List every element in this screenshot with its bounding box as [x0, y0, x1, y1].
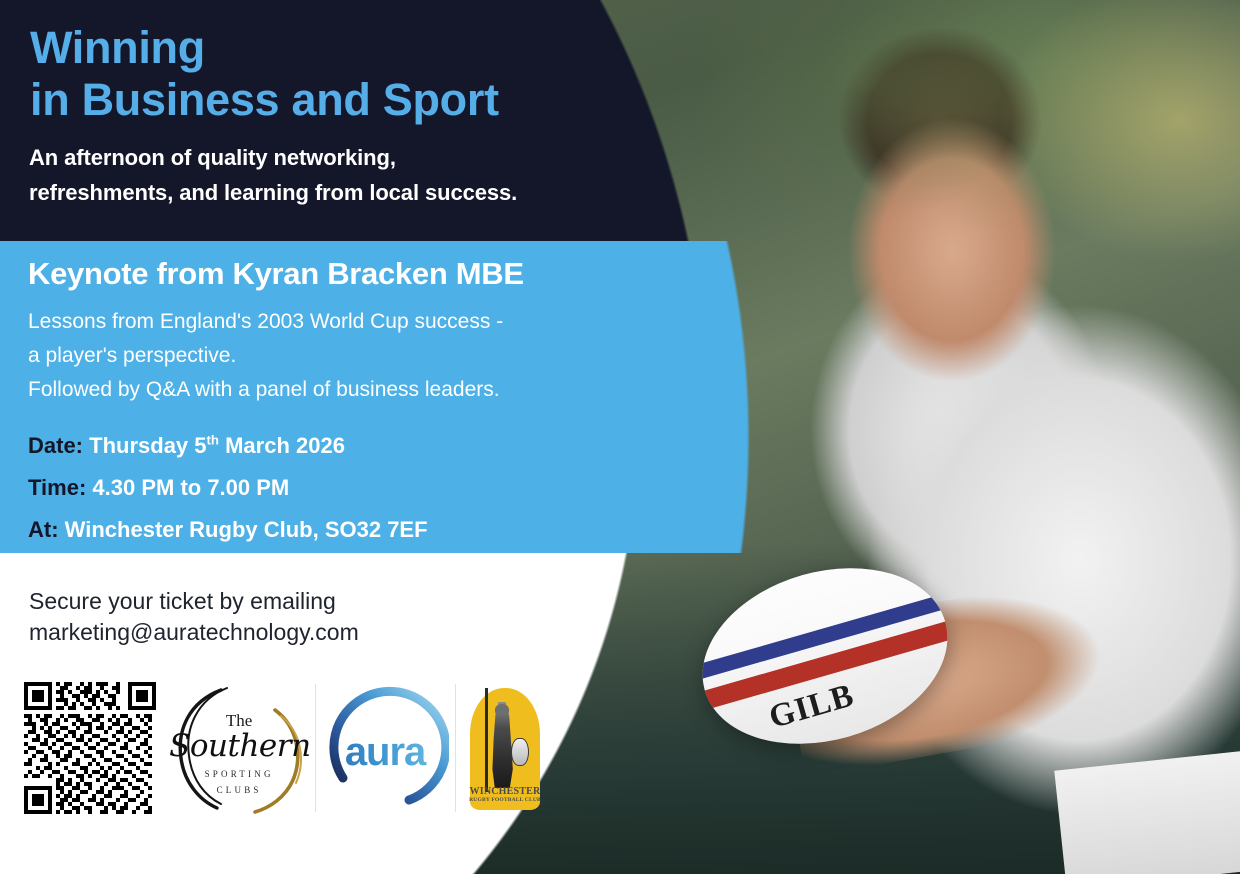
event-flyer: GILB Winning in Business and Sport An af… [0, 0, 1240, 874]
southern-sporting-text: SPORTING [169, 768, 309, 782]
qr-code-cell[interactable] [24, 678, 156, 818]
king-alfred-shield-icon [511, 738, 529, 766]
keynote-desc-line-3: Followed by Q&A with a panel of business… [28, 373, 503, 407]
aura-logo: aura [321, 678, 449, 818]
southern-logo-mark: The Southern SPORTING CLUBS [169, 682, 309, 814]
king-alfred-head-icon [495, 704, 509, 715]
detail-row-date: Date: Thursday 5th March 2026 [28, 425, 428, 467]
winchester-name-line-1: WINCHESTER [461, 786, 549, 797]
cta-email[interactable]: marketing@auratechnology.com [29, 617, 359, 648]
aura-logo-mark: aura [321, 682, 449, 814]
qr-code-icon[interactable] [24, 682, 156, 814]
logo-divider-2 [449, 678, 461, 818]
southern-sporting-clubs-logo: The Southern SPORTING CLUBS [169, 678, 309, 818]
divider-line [315, 684, 316, 812]
subheadline-line-1: An afternoon of quality networking, [29, 140, 517, 175]
keynote-title: Keynote from Kyran Bracken MBE [28, 256, 524, 292]
page-title: Winning in Business and Sport [30, 22, 499, 126]
qr-code-svg [24, 682, 156, 814]
king-alfred-staff-icon [485, 688, 488, 792]
date-value-pre: Thursday 5 [89, 433, 206, 458]
logo-spacer-1 [156, 678, 169, 818]
keynote-desc-line-1: Lessons from England's 2003 World Cup su… [28, 305, 503, 339]
headline-line-1: Winning [30, 22, 499, 74]
date-label: Date: [28, 433, 83, 458]
winchester-logo-mark: WINCHESTER RUGBY FOOTBALL CLUB [461, 682, 549, 814]
location-label: At: [28, 517, 59, 542]
date-value: Thursday 5th March 2026 [89, 433, 345, 458]
cta-line-1: Secure your ticket by emailing [29, 586, 359, 617]
event-details: Date: Thursday 5th March 2026 Time: 4.30… [28, 425, 428, 552]
date-value-post: March 2026 [219, 433, 345, 458]
cta-text: Secure your ticket by emailing marketing… [29, 586, 359, 648]
southern-clubs-text: CLUBS [169, 784, 309, 798]
detail-row-time: Time: 4.30 PM to 7.00 PM [28, 467, 428, 509]
winchester-name-line-2: RUGBY FOOTBALL CLUB [461, 797, 549, 803]
logo-divider-1 [309, 678, 321, 818]
keynote-desc-line-2: a player's perspective. [28, 339, 503, 373]
headline-line-2: in Business and Sport [30, 74, 499, 126]
time-label: Time: [28, 475, 86, 500]
subheadline: An afternoon of quality networking, refr… [29, 140, 517, 210]
subheadline-line-2: refreshments, and learning from local su… [29, 175, 517, 210]
keynote-description: Lessons from England's 2003 World Cup su… [28, 305, 503, 407]
southern-the-text: The [169, 712, 309, 729]
date-ordinal-suffix: th [207, 433, 219, 448]
southern-word-text: Southern [169, 729, 309, 765]
divider-line [455, 684, 456, 812]
winchester-rugby-club-logo: WINCHESTER RUGBY FOOTBALL CLUB [461, 678, 549, 818]
aura-wordmark-text: aura [321, 730, 449, 775]
time-value: 4.30 PM to 7.00 PM [92, 475, 289, 500]
detail-row-location: At: Winchester Rugby Club, SO32 7EF [28, 509, 428, 551]
location-value: Winchester Rugby Club, SO32 7EF [65, 517, 428, 542]
southern-logo-text: The Southern SPORTING CLUBS [169, 712, 309, 798]
logo-strip: The Southern SPORTING CLUBS [24, 678, 549, 818]
